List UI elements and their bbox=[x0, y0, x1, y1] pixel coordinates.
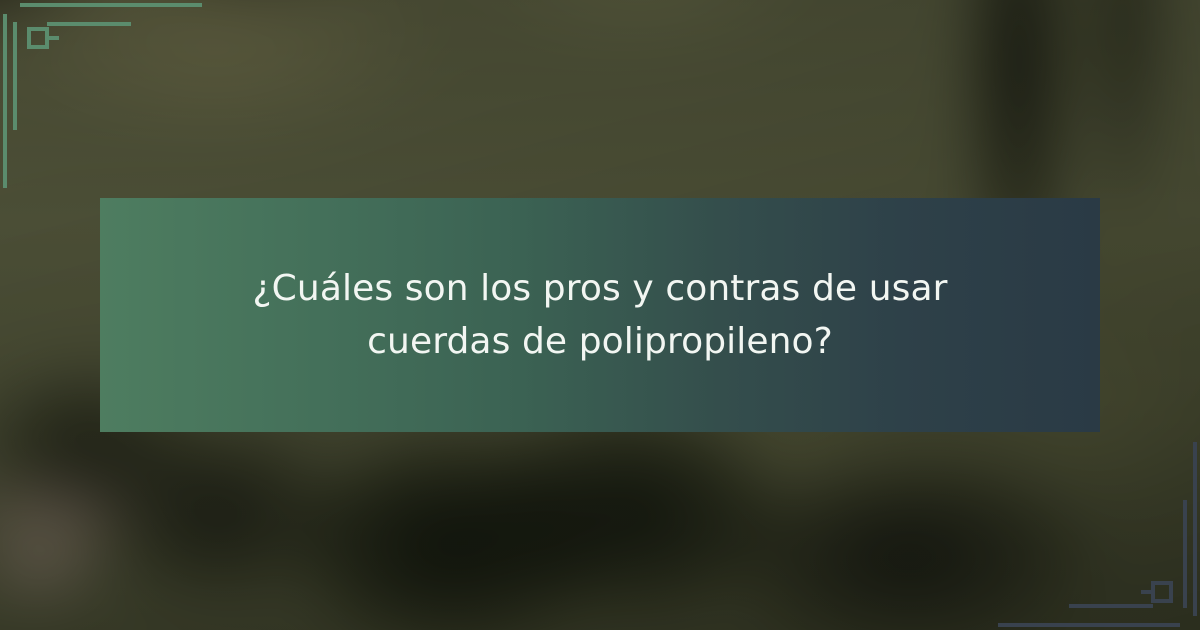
ornament-line-top-short bbox=[47, 22, 131, 26]
ornament-line-right-long bbox=[1193, 442, 1197, 616]
ornament-line-bottom-short bbox=[1069, 604, 1153, 608]
corner-ornament-top-left bbox=[0, 0, 240, 200]
ornament-line-bottom-long bbox=[998, 623, 1180, 627]
corner-ornament-bottom-right bbox=[960, 430, 1200, 630]
question-text: ¿Cuáles son los pros y contras de usar c… bbox=[220, 262, 980, 369]
ornament-line-left-short bbox=[13, 22, 17, 130]
ornament-line-left-long bbox=[3, 14, 7, 188]
ornament-square-connector bbox=[1141, 590, 1155, 594]
ornament-square-connector bbox=[45, 36, 59, 40]
question-panel: ¿Cuáles son los pros y contras de usar c… bbox=[100, 198, 1100, 432]
ornament-line-right-short bbox=[1183, 500, 1187, 608]
ornament-line-top-long bbox=[20, 3, 202, 7]
question-card: ¿Cuáles son los pros y contras de usar c… bbox=[0, 0, 1200, 630]
